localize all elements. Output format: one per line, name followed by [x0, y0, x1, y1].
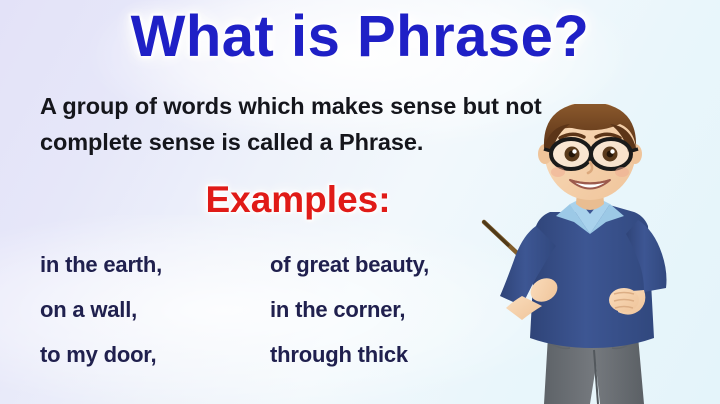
- example-item: in the corner,: [270, 297, 500, 323]
- example-item: of great beauty,: [270, 252, 500, 278]
- cheek-left: [551, 167, 565, 177]
- example-row: in the earth, of great beauty,: [40, 252, 500, 297]
- phrase-lesson-slide: What is Phrase? A group of words which m…: [0, 0, 720, 404]
- example-row: on a wall, in the corner,: [40, 297, 500, 342]
- example-item: on a wall,: [40, 297, 270, 323]
- example-item: in the earth,: [40, 252, 270, 278]
- cheek-right: [615, 167, 629, 177]
- example-item: to my door,: [40, 342, 270, 368]
- examples-list: in the earth, of great beauty, on a wall…: [40, 252, 500, 387]
- example-row: to my door, through thick: [40, 342, 500, 387]
- page-title: What is Phrase?: [0, 8, 720, 66]
- teacher-illustration: [478, 104, 720, 404]
- example-item: through thick: [270, 342, 500, 368]
